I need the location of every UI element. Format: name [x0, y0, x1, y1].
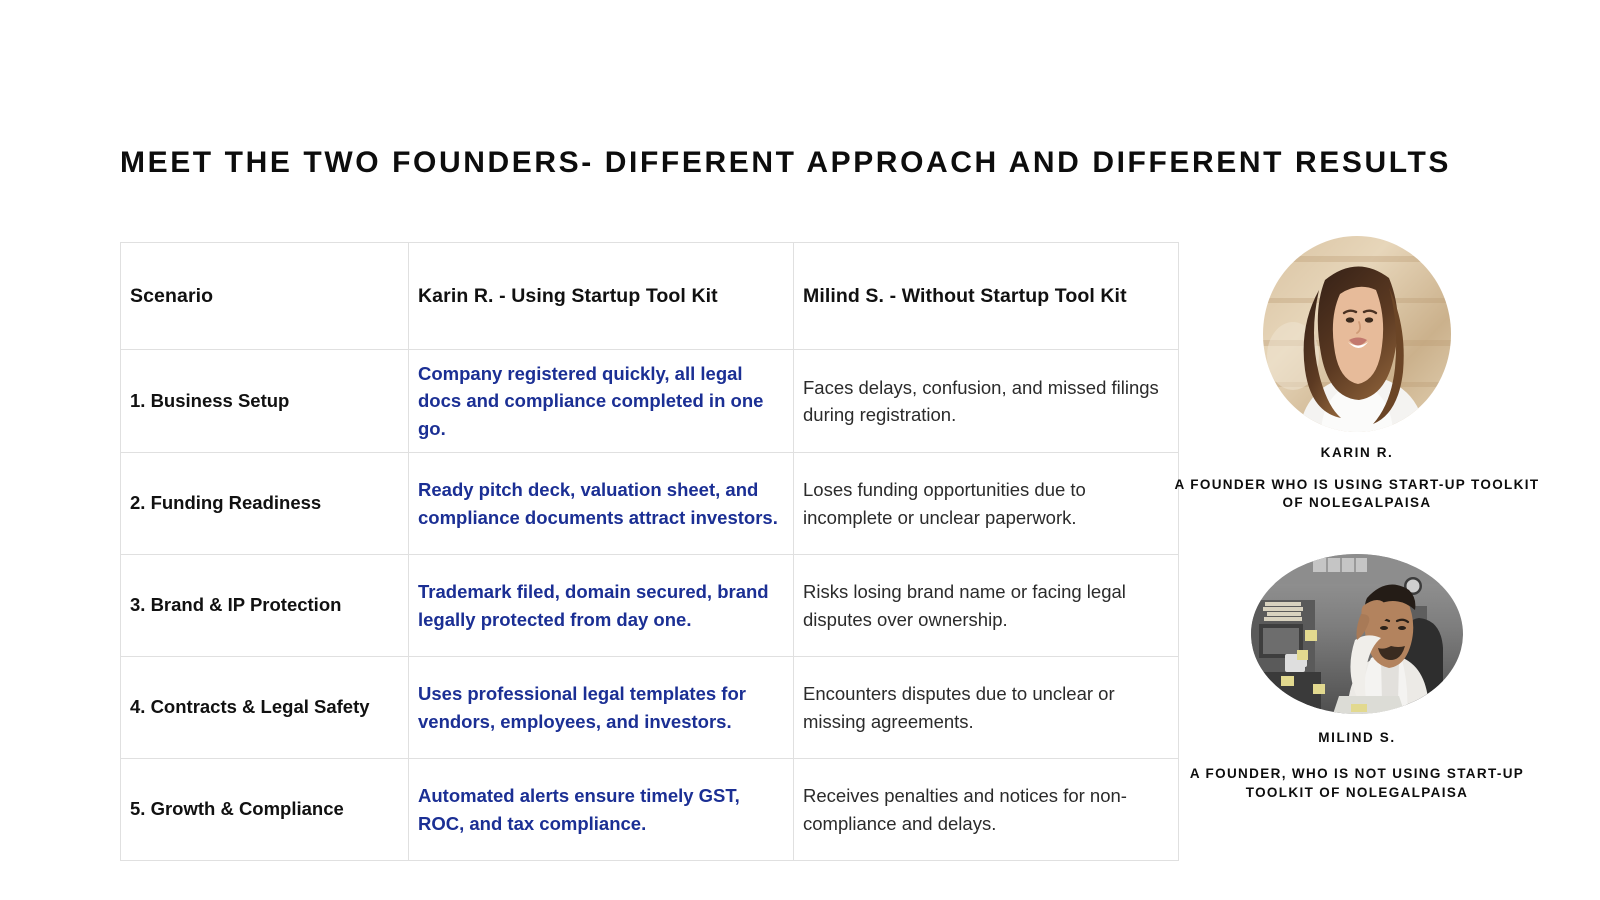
- cell-scenario: 1. Business Setup: [121, 350, 409, 453]
- table-row: 4. Contracts & Legal Safety Uses profess…: [121, 657, 1179, 759]
- karin-name-label: KARIN R.: [1162, 445, 1552, 460]
- cell-karin-outcome: Ready pitch deck, valuation sheet, and c…: [409, 453, 794, 555]
- table-header-row: Scenario Karin R. - Using Startup Tool K…: [121, 243, 1179, 350]
- milind-role-label: A FOUNDER, WHO IS NOT USING START-UP TOO…: [1162, 765, 1552, 801]
- cell-milind-outcome: Faces delays, confusion, and missed fili…: [794, 350, 1179, 453]
- founder-comparison-table: Scenario Karin R. - Using Startup Tool K…: [120, 242, 1179, 861]
- cell-karin-outcome: Trademark filed, domain secured, brand l…: [409, 555, 794, 657]
- column-header-karin: Karin R. - Using Startup Tool Kit: [409, 243, 794, 350]
- cell-karin-outcome: Uses professional legal templates for ve…: [409, 657, 794, 759]
- profile-card-karin: KARIN R. A FOUNDER WHO IS USING START-UP…: [1162, 236, 1552, 512]
- table-row: 2. Funding Readiness Ready pitch deck, v…: [121, 453, 1179, 555]
- milind-name-label: MILIND S.: [1162, 730, 1552, 745]
- cell-scenario: 3. Brand & IP Protection: [121, 555, 409, 657]
- cell-scenario: 4. Contracts & Legal Safety: [121, 657, 409, 759]
- cell-karin-outcome: Company registered quickly, all legal do…: [409, 350, 794, 453]
- column-header-milind: Milind S. - Without Startup Tool Kit: [794, 243, 1179, 350]
- table-row: 3. Brand & IP Protection Trademark filed…: [121, 555, 1179, 657]
- cell-milind-outcome: Risks losing brand name or facing legal …: [794, 555, 1179, 657]
- milind-avatar-photo: [1251, 554, 1463, 714]
- table-row: 1. Business Setup Company registered qui…: [121, 350, 1179, 453]
- karin-avatar-photo: [1263, 236, 1451, 432]
- cell-milind-outcome: Loses funding opportunities due to incom…: [794, 453, 1179, 555]
- cell-scenario: 2. Funding Readiness: [121, 453, 409, 555]
- cell-karin-outcome: Automated alerts ensure timely GST, ROC,…: [409, 759, 794, 861]
- slide-canvas: MEET THE TWO FOUNDERS- DIFFERENT APPROAC…: [0, 0, 1600, 900]
- cell-milind-outcome: Receives penalties and notices for non-c…: [794, 759, 1179, 861]
- column-header-scenario: Scenario: [121, 243, 409, 350]
- founder-profiles-panel: KARIN R. A FOUNDER WHO IS USING START-UP…: [1162, 236, 1552, 802]
- page-title: MEET THE TWO FOUNDERS- DIFFERENT APPROAC…: [120, 146, 1520, 179]
- karin-role-label: A FOUNDER WHO IS USING START-UP TOOLKIT …: [1162, 476, 1552, 512]
- cell-milind-outcome: Encounters disputes due to unclear or mi…: [794, 657, 1179, 759]
- table-row: 5. Growth & Compliance Automated alerts …: [121, 759, 1179, 861]
- cell-scenario: 5. Growth & Compliance: [121, 759, 409, 861]
- profile-card-milind: MILIND S. A FOUNDER, WHO IS NOT USING ST…: [1162, 554, 1552, 801]
